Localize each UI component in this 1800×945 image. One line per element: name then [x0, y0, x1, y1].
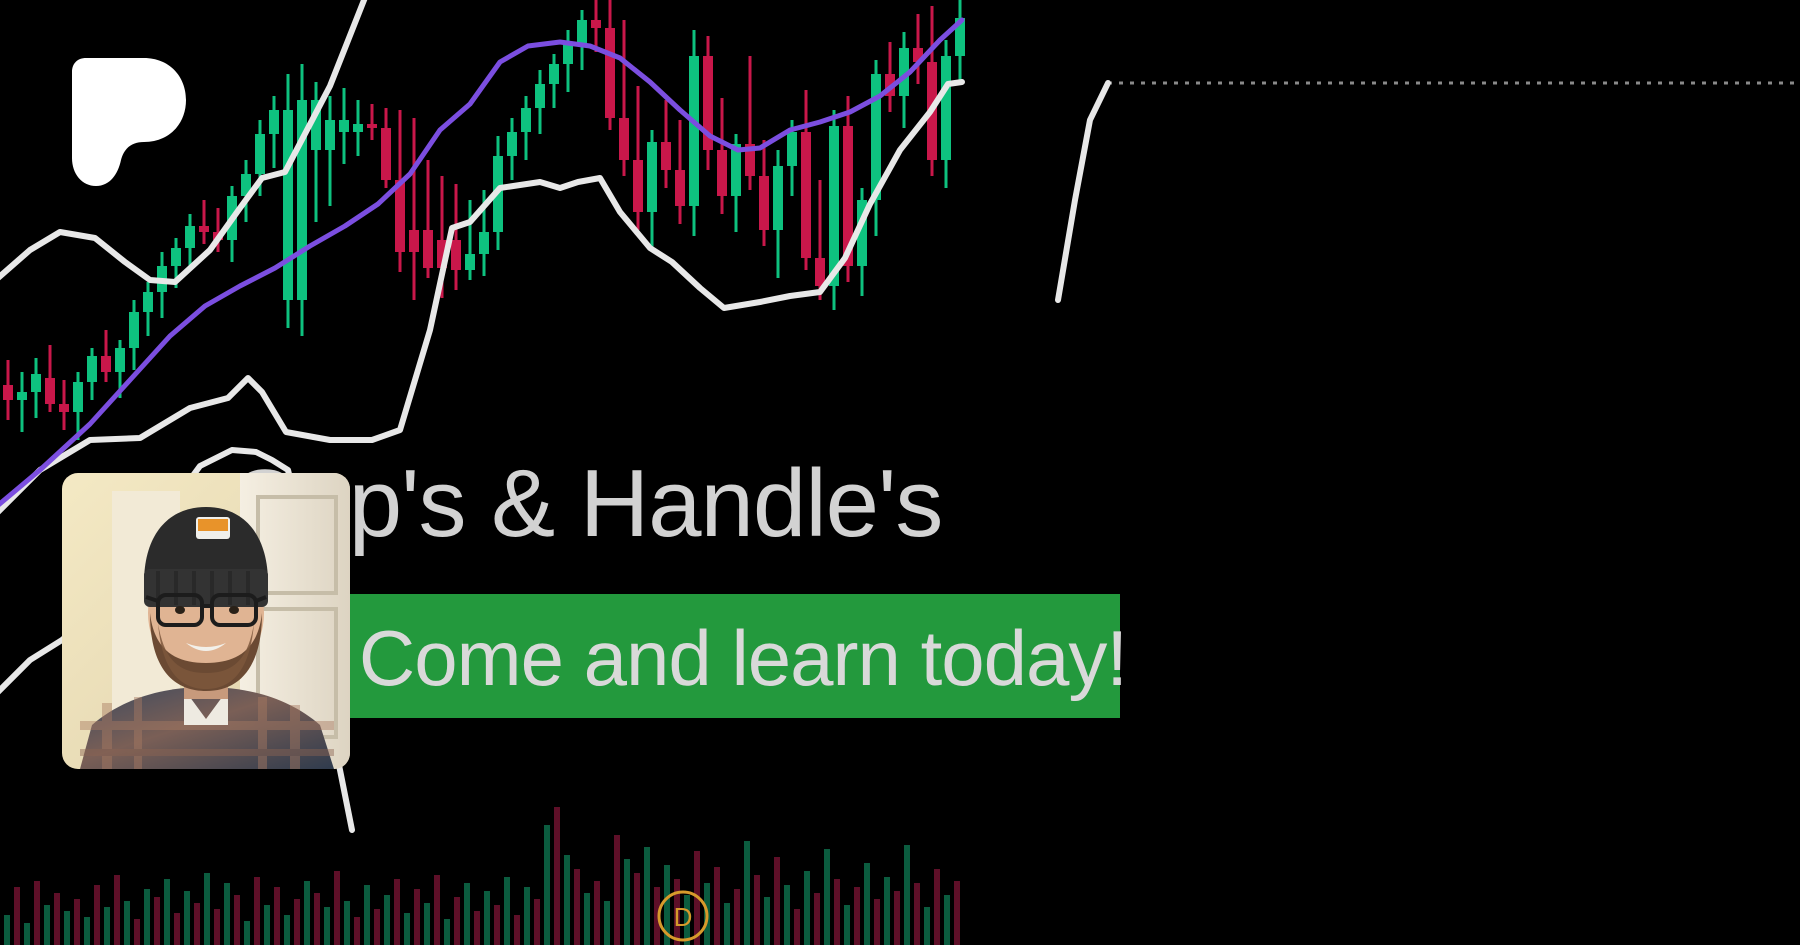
- candle-body: [549, 64, 559, 84]
- volume-bar: [74, 899, 80, 945]
- candle-body: [59, 404, 69, 412]
- volume-bar: [154, 897, 160, 945]
- candle-body: [171, 248, 181, 266]
- volume-bar: [524, 887, 530, 945]
- volume-bar: [234, 895, 240, 945]
- candle-body: [829, 126, 839, 286]
- candle-body: [87, 356, 97, 382]
- candle-body: [605, 28, 615, 118]
- candle-body: [507, 132, 517, 156]
- volume-bar: [804, 871, 810, 945]
- candle-body: [451, 240, 461, 270]
- volume-bar: [64, 911, 70, 945]
- volume-bar: [774, 857, 780, 945]
- candle-body: [31, 374, 41, 392]
- candle-body: [353, 124, 363, 132]
- volume-bar: [274, 887, 280, 945]
- volume-bar: [344, 901, 350, 945]
- candle-body: [143, 292, 153, 312]
- volume-bar: [554, 807, 560, 945]
- volume-bar: [314, 893, 320, 945]
- candle-body: [367, 124, 377, 128]
- candle-body: [101, 356, 111, 372]
- candle-body: [283, 110, 293, 300]
- volume-bar: [824, 849, 830, 945]
- timeframe-marker: D: [655, 888, 711, 944]
- volume-bar: [444, 919, 450, 945]
- volume-bar: [354, 917, 360, 945]
- volume-bar: [584, 893, 590, 945]
- volume-bar: [434, 875, 440, 945]
- volume-bar: [834, 879, 840, 945]
- volume-bar: [194, 903, 200, 945]
- volume-bar: [474, 911, 480, 945]
- candle-body: [73, 382, 83, 412]
- timeframe-marker-label: D: [674, 902, 693, 932]
- volume-bar: [84, 917, 90, 945]
- volume-bar: [894, 891, 900, 945]
- volume-bar: [174, 913, 180, 945]
- candle-body: [269, 110, 279, 134]
- candle-body: [577, 20, 587, 44]
- candle-body: [941, 56, 951, 160]
- candle-body: [185, 226, 195, 248]
- volume-bar: [544, 825, 550, 945]
- volume-bar: [374, 909, 380, 945]
- volume-bar: [254, 877, 260, 945]
- volume-bar: [754, 875, 760, 945]
- volume-bar: [214, 909, 220, 945]
- volume-bar: [904, 845, 910, 945]
- candle-body: [129, 312, 139, 348]
- volume-bar: [204, 873, 210, 945]
- candle-body: [381, 128, 391, 180]
- patreon-logo-icon: [70, 56, 186, 188]
- candle-body: [591, 20, 601, 28]
- volume-bar: [784, 885, 790, 945]
- candle-body: [647, 142, 657, 212]
- candle-body: [787, 132, 797, 166]
- candle-body: [115, 348, 125, 372]
- volume-bar: [324, 907, 330, 945]
- volume-bar: [594, 881, 600, 945]
- candle-body: [521, 108, 531, 132]
- volume-bar: [714, 867, 720, 945]
- volume-bar: [94, 885, 100, 945]
- volume-bar: [144, 889, 150, 945]
- candle-body: [619, 118, 629, 160]
- volume-bar: [884, 877, 890, 945]
- candle-body: [479, 232, 489, 254]
- volume-bar: [934, 869, 940, 945]
- volume-bar: [114, 875, 120, 945]
- volume-bar: [624, 859, 630, 945]
- candle-body: [717, 150, 727, 196]
- volume-bar: [284, 915, 290, 945]
- candle-body: [815, 258, 825, 286]
- volume-bar: [764, 897, 770, 945]
- volume-bar: [844, 905, 850, 945]
- volume-bar: [24, 923, 30, 945]
- volume-bar: [264, 905, 270, 945]
- volume-bar: [514, 915, 520, 945]
- volume-bar: [864, 863, 870, 945]
- volume-bar: [394, 879, 400, 945]
- volume-bar: [404, 913, 410, 945]
- candle-body: [17, 392, 27, 400]
- webcam-person-eye-left: [175, 606, 185, 614]
- volume-bar: [644, 847, 650, 945]
- volume-bar: [124, 901, 130, 945]
- volume-bar: [574, 869, 580, 945]
- volume-bar: [634, 873, 640, 945]
- volume-bar: [334, 871, 340, 945]
- volume-bar: [384, 895, 390, 945]
- webcam-person-eye-right: [229, 606, 239, 614]
- candle-body: [45, 378, 55, 404]
- volume-bar: [364, 885, 370, 945]
- volume-bar: [874, 899, 880, 945]
- candle-body: [409, 230, 419, 252]
- volume-bar: [54, 893, 60, 945]
- candle-body: [465, 254, 475, 270]
- volume-bar: [534, 899, 540, 945]
- candle-body: [661, 142, 671, 170]
- volume-bar: [604, 901, 610, 945]
- cta-banner-label: Come and learn today!: [348, 610, 1138, 706]
- candle-body: [759, 176, 769, 230]
- candle-body: [423, 230, 433, 268]
- volume-bar: [454, 897, 460, 945]
- volume-bar: [464, 883, 470, 945]
- volume-bar: [494, 905, 500, 945]
- volume-bar: [304, 881, 310, 945]
- candle-body: [3, 385, 13, 400]
- candle-body: [535, 84, 545, 108]
- webcam-overlay[interactable]: [62, 473, 350, 769]
- volume-bar: [244, 921, 250, 945]
- volume-bar: [814, 893, 820, 945]
- volume-bar: [134, 919, 140, 945]
- candle-body: [325, 120, 335, 150]
- volume-bar: [924, 907, 930, 945]
- volume-bar: [414, 889, 420, 945]
- volume-bar: [44, 905, 50, 945]
- volume-bar: [4, 915, 10, 945]
- volume-bar: [794, 909, 800, 945]
- candle-body: [395, 180, 405, 252]
- volume-bar: [164, 879, 170, 945]
- volume-bar: [914, 883, 920, 945]
- volume-bar: [944, 895, 950, 945]
- volume-bar: [954, 881, 960, 945]
- candle-body: [773, 166, 783, 230]
- candle-body: [801, 132, 811, 258]
- volume-bar: [294, 899, 300, 945]
- volume-bar: [854, 887, 860, 945]
- candle-body: [199, 226, 209, 232]
- volume-bar: [14, 887, 20, 945]
- volume-bar: [424, 903, 430, 945]
- candle-body: [689, 56, 699, 206]
- volume-bar: [34, 881, 40, 945]
- candle-body: [633, 160, 643, 212]
- candle-body: [675, 170, 685, 206]
- volume-bar: [184, 891, 190, 945]
- webcam-beanie-label-logo: [198, 519, 228, 531]
- candle-body: [339, 120, 349, 132]
- volume-bar: [484, 891, 490, 945]
- volume-bar: [614, 835, 620, 945]
- volume-bar: [504, 877, 510, 945]
- volume-bar: [564, 855, 570, 945]
- volume-bar: [224, 883, 230, 945]
- volume-bar: [104, 907, 110, 945]
- volume-bar: [734, 889, 740, 945]
- page-title: Cup's & Handle's: [228, 452, 1228, 556]
- candle-body: [255, 134, 265, 174]
- stream-overlay-stage: Cup's & Handle's Come and learn today!: [0, 0, 1800, 945]
- candle-body: [563, 44, 573, 64]
- volume-bar: [744, 841, 750, 945]
- volume-bar: [724, 903, 730, 945]
